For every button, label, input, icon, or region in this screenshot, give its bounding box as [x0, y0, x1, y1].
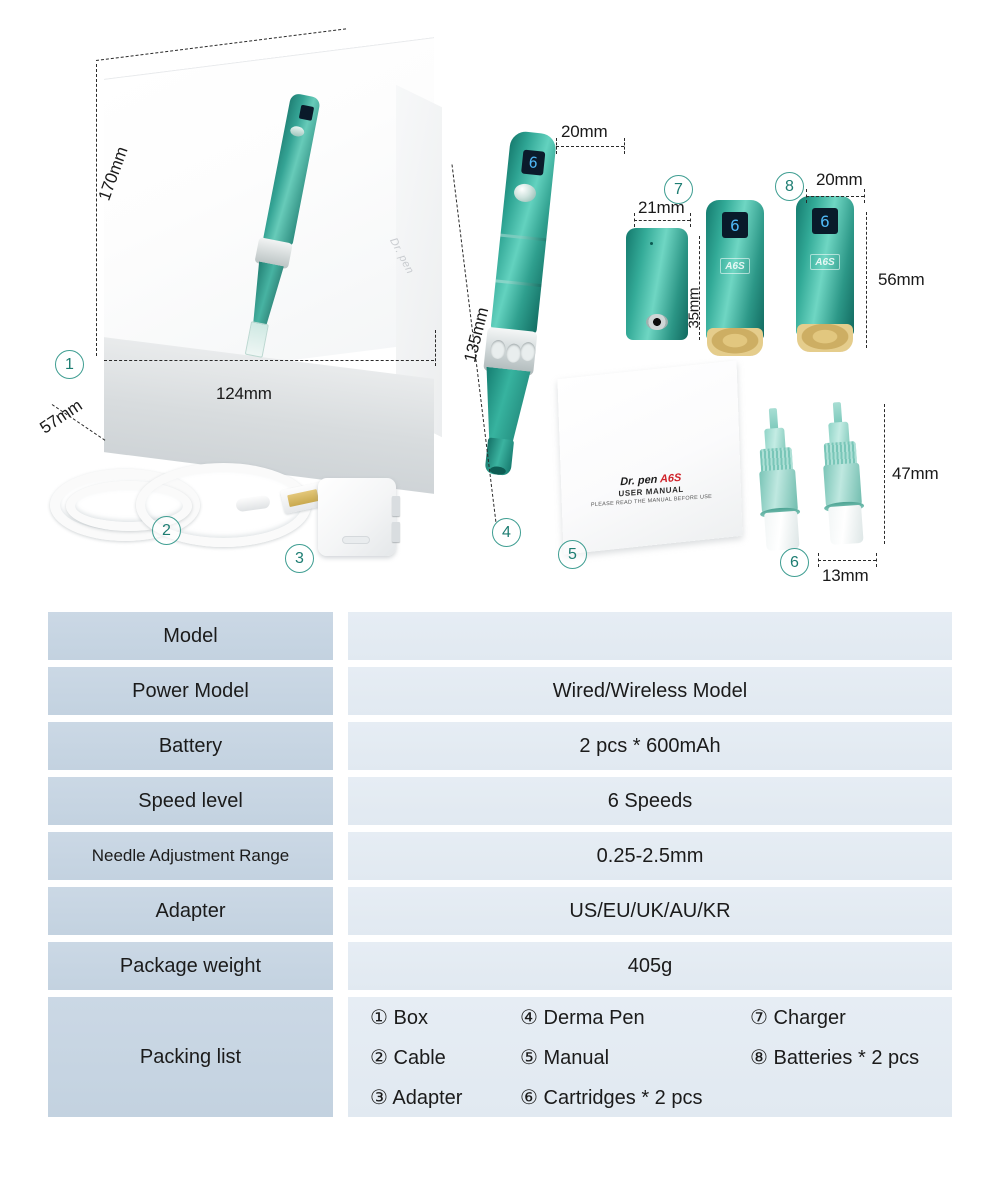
dim-charger-width: 21mm — [638, 198, 684, 218]
adapter-body — [318, 478, 396, 556]
battery-display: 6 — [812, 208, 838, 234]
callout-3-adapter: 3 — [285, 544, 314, 573]
table-row: Model — [0, 612, 1000, 660]
battery-display-value: 6 — [820, 212, 830, 231]
spec-value: 2 pcs * 600mAh — [348, 722, 952, 770]
box-height-leader — [96, 64, 97, 356]
dim-battery-height: 56mm — [878, 270, 924, 290]
packing-item: ④ Derma Pen — [520, 1005, 750, 1030]
printed-pen-cartridge — [245, 321, 269, 358]
charger-width-tick-right — [690, 213, 691, 227]
packing-marker: ⑤ — [520, 1047, 538, 1069]
table-row: Power Model Wired/Wireless Model — [0, 667, 1000, 715]
dim-box-width: 124mm — [216, 384, 272, 404]
table-row-packing-list: Packing list ① Box ④ Derma Pen ⑦ Charger… — [0, 997, 1000, 1117]
adapter-usb-port — [342, 536, 370, 544]
cartridge-width-leader — [818, 560, 876, 561]
packing-text: Adapter — [392, 1087, 462, 1109]
battery-contact-base — [797, 324, 853, 352]
packing-text: Cable — [394, 1047, 446, 1069]
user-manual: Dr. pen A6S USER MANUAL PLEASE READ THE … — [557, 360, 742, 554]
packing-text: Manual — [544, 1047, 610, 1069]
packing-text: Batteries * 2 pcs — [774, 1047, 920, 1069]
battery-display-value: 6 — [730, 216, 740, 235]
spec-label: Packing list — [48, 997, 333, 1117]
dim-cartridge-height: 47mm — [892, 464, 938, 484]
spec-value: 0.25-2.5mm — [348, 832, 952, 880]
spec-label: Adapter — [48, 887, 333, 935]
packing-text: Cartridges * 2 pcs — [544, 1087, 703, 1109]
packing-item: ⑤ Manual — [520, 1045, 750, 1070]
packing-marker: ⑧ — [750, 1047, 768, 1069]
packing-marker: ④ — [520, 1007, 538, 1029]
dim-battery-width: 20mm — [816, 170, 862, 190]
callout-4-derma-pen: 4 — [492, 518, 521, 547]
adapter-prong — [392, 496, 400, 516]
printed-pen-screen — [299, 105, 314, 121]
spec-label: Model — [48, 612, 333, 660]
dim-pen-width: 20mm — [561, 122, 607, 142]
pen-width-tick-left — [556, 138, 557, 154]
collar-vent — [519, 341, 536, 361]
callout-5-manual: 5 — [558, 540, 587, 569]
packing-marker: ⑥ — [520, 1087, 538, 1109]
table-row: Battery 2 pcs * 600mAh — [0, 722, 1000, 770]
battery-unit: 6 A6S — [796, 196, 858, 356]
retail-box — [96, 58, 441, 478]
spec-label: Battery — [48, 722, 333, 770]
battery-logo: A6S — [720, 258, 750, 274]
spec-value: US/EU/UK/AU/KR — [348, 887, 952, 935]
adapter-prong — [392, 522, 400, 542]
battery-width-leader — [806, 196, 864, 197]
battery-logo: A6S — [810, 254, 840, 270]
callout-8-batteries: 8 — [775, 172, 804, 201]
charger-width-leader — [634, 220, 690, 221]
cartridge-body — [823, 463, 862, 507]
dim-box-depth: 57mm — [36, 396, 86, 439]
charger-width-tick-left — [634, 213, 635, 227]
packing-marker: ① — [370, 1007, 388, 1029]
needle-cartridge — [811, 400, 875, 553]
power-adapter — [318, 478, 410, 560]
callout-1-box: 1 — [55, 350, 84, 379]
cartridge-body — [759, 469, 798, 513]
box-width-tick-right — [435, 330, 436, 366]
collar-vent — [490, 339, 507, 359]
table-row: Speed level 6 Speeds — [0, 777, 1000, 825]
packing-item: ⑦ Charger — [750, 1005, 919, 1030]
pen-display: 6 — [521, 150, 545, 176]
spec-value: 6 Speeds — [348, 777, 952, 825]
packing-list-grid: ① Box ④ Derma Pen ⑦ Charger ② Cable ⑤ Ma… — [370, 997, 919, 1117]
specification-table: Model Power Model Wired/Wireless Model B… — [0, 612, 1000, 1124]
dim-cartridge-width: 13mm — [822, 566, 868, 586]
usb-cable — [40, 455, 330, 560]
battery-height-leader — [866, 212, 867, 348]
packing-marker: ⑦ — [750, 1007, 768, 1029]
pen-display-value: 6 — [528, 153, 539, 172]
packing-item: ① Box — [370, 1005, 520, 1030]
cartridge-width-tick-left — [818, 553, 819, 567]
packing-text: Box — [394, 1007, 428, 1029]
spec-label: Speed level — [48, 777, 333, 825]
packing-text: Charger — [774, 1007, 846, 1029]
spec-label: Power Model — [48, 667, 333, 715]
pen-width-tick-right — [624, 138, 625, 154]
callout-6-cartridges: 6 — [780, 548, 809, 577]
packing-item: ⑧ Batteries * 2 pcs — [750, 1045, 919, 1070]
pen-width-leader — [556, 146, 624, 147]
packing-marker: ③ — [370, 1087, 388, 1109]
spec-label: Needle Adjustment Range — [48, 832, 333, 880]
callout-2-cable: 2 — [152, 516, 181, 545]
battery-unit: 6 A6S — [706, 200, 768, 360]
dim-charger-height: 35mm — [686, 288, 703, 329]
charger-unit — [626, 228, 694, 346]
battery-width-tick-right — [864, 189, 865, 203]
spec-value — [348, 612, 952, 660]
packing-item: ③ Adapter — [370, 1085, 520, 1110]
spec-value: 405g — [348, 942, 952, 990]
table-row: Needle Adjustment Range 0.25-2.5mm — [0, 832, 1000, 880]
cartridge-base — [764, 511, 800, 551]
packing-text: Derma Pen — [544, 1007, 645, 1029]
packing-marker: ② — [370, 1047, 388, 1069]
manual-model-text: A6S — [660, 472, 681, 486]
battery-contact-base — [707, 328, 763, 356]
table-row: Package weight 405g — [0, 942, 1000, 990]
packing-item: ⑥ Cartridges * 2 pcs — [520, 1085, 750, 1110]
table-row: Adapter US/EU/UK/AU/KR — [0, 887, 1000, 935]
needle-cartridge — [747, 406, 811, 559]
printed-pen-cone — [245, 261, 286, 328]
battery-width-tick-left — [806, 189, 807, 203]
cartridge-width-tick-right — [876, 553, 877, 567]
spec-value-packing: ① Box ④ Derma Pen ⑦ Charger ② Cable ⑤ Ma… — [348, 997, 952, 1117]
charger-indicator-dot — [650, 242, 653, 245]
cartridge-height-leader — [884, 404, 885, 544]
box-width-leader — [104, 360, 434, 361]
product-diagram: Dr. pen 170mm 124mm 57mm 1 2 3 — [0, 0, 1000, 605]
product-spec-page: Dr. pen 170mm 124mm 57mm 1 2 3 — [0, 0, 1000, 1200]
cartridge-base — [828, 505, 864, 545]
spec-value: Wired/Wireless Model — [348, 667, 952, 715]
battery-display: 6 — [722, 212, 748, 238]
charger-dc-jack — [646, 314, 668, 330]
spec-label: Package weight — [48, 942, 333, 990]
packing-item: ② Cable — [370, 1045, 520, 1070]
